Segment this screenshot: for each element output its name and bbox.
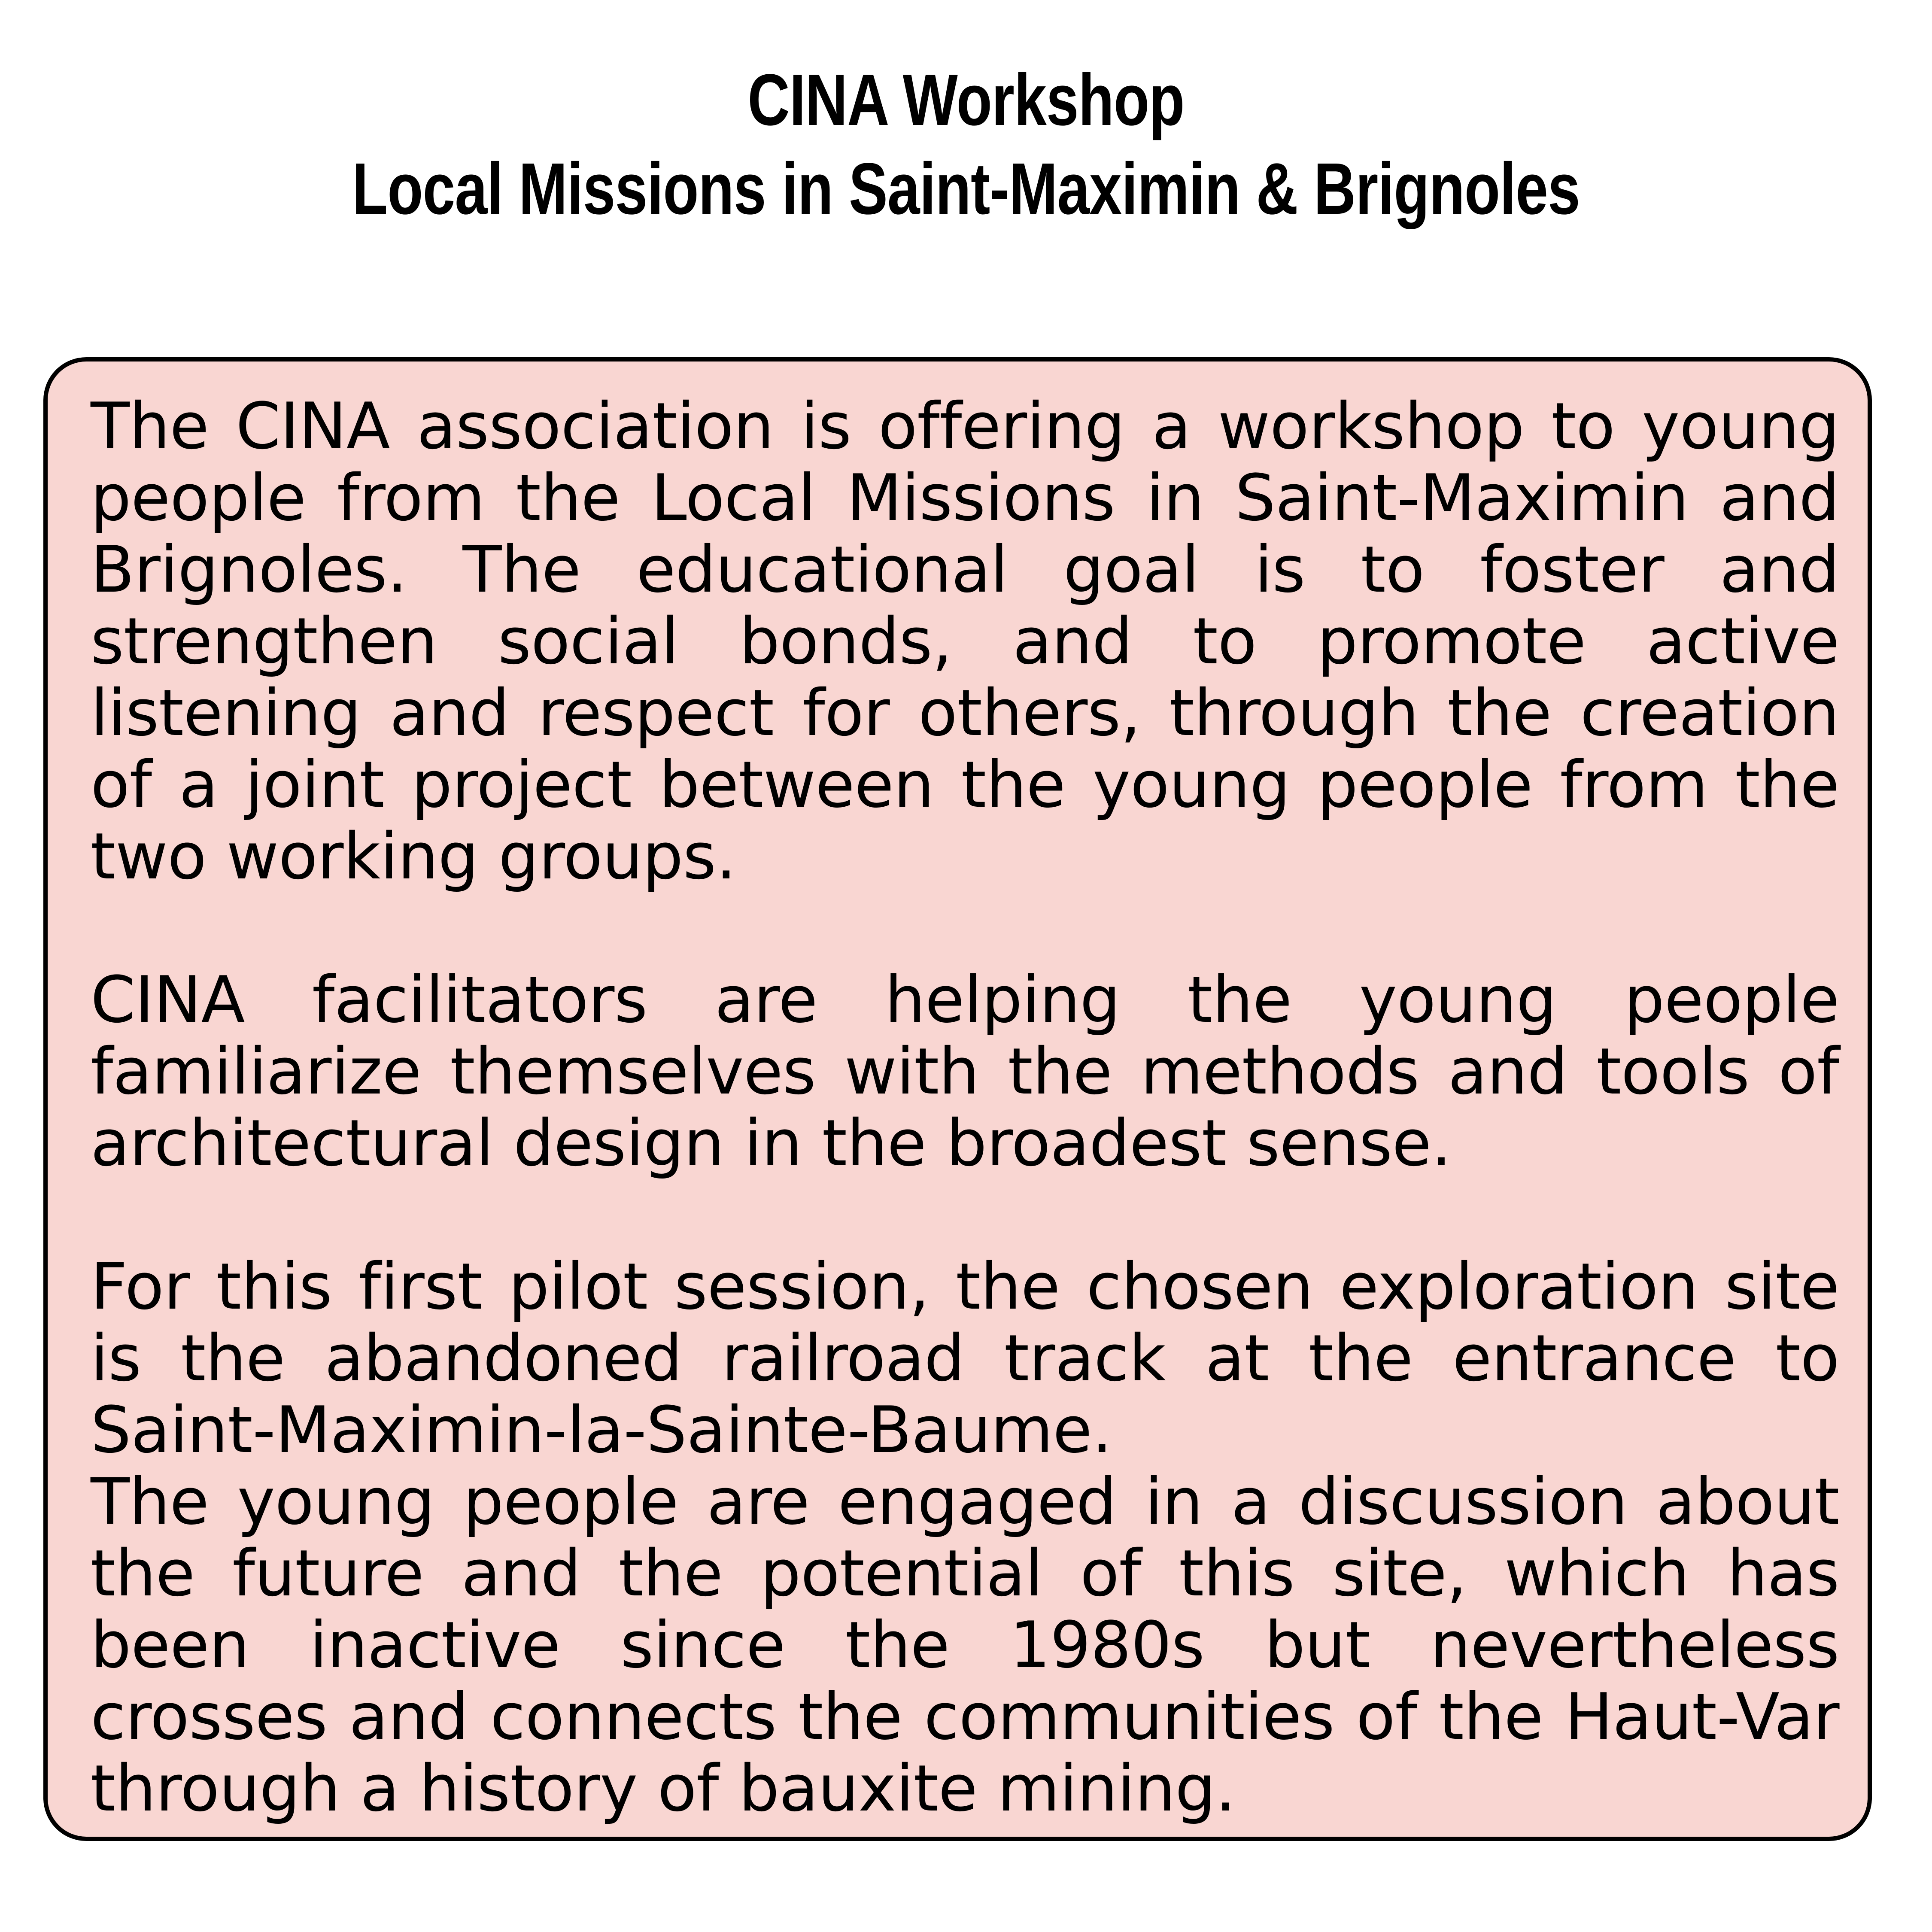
paragraph-spacer [91, 1179, 1839, 1251]
paragraph-pilot-site: For this first pilot session, the chosen… [91, 1251, 1839, 1466]
title-line-secondary: Local Missions in Saint-Maximin & Brigno… [193, 145, 1739, 234]
paragraph-spacer [91, 893, 1839, 964]
page-title: CINA Workshop Local Missions in Saint-Ma… [0, 56, 1932, 234]
poster-page: CINA Workshop Local Missions in Saint-Ma… [0, 0, 1932, 1932]
description-text-body: The CINA association is offering a works… [91, 391, 1839, 1825]
paragraph-discussion: The young people are engaged in a discus… [91, 1466, 1839, 1825]
title-line-primary: CINA Workshop [193, 56, 1739, 145]
paragraph-intro: The CINA association is offering a works… [91, 391, 1839, 893]
description-card: The CINA association is offering a works… [43, 357, 1872, 1841]
paragraph-facilitators: CINA facilitators are helping the young … [91, 964, 1839, 1179]
